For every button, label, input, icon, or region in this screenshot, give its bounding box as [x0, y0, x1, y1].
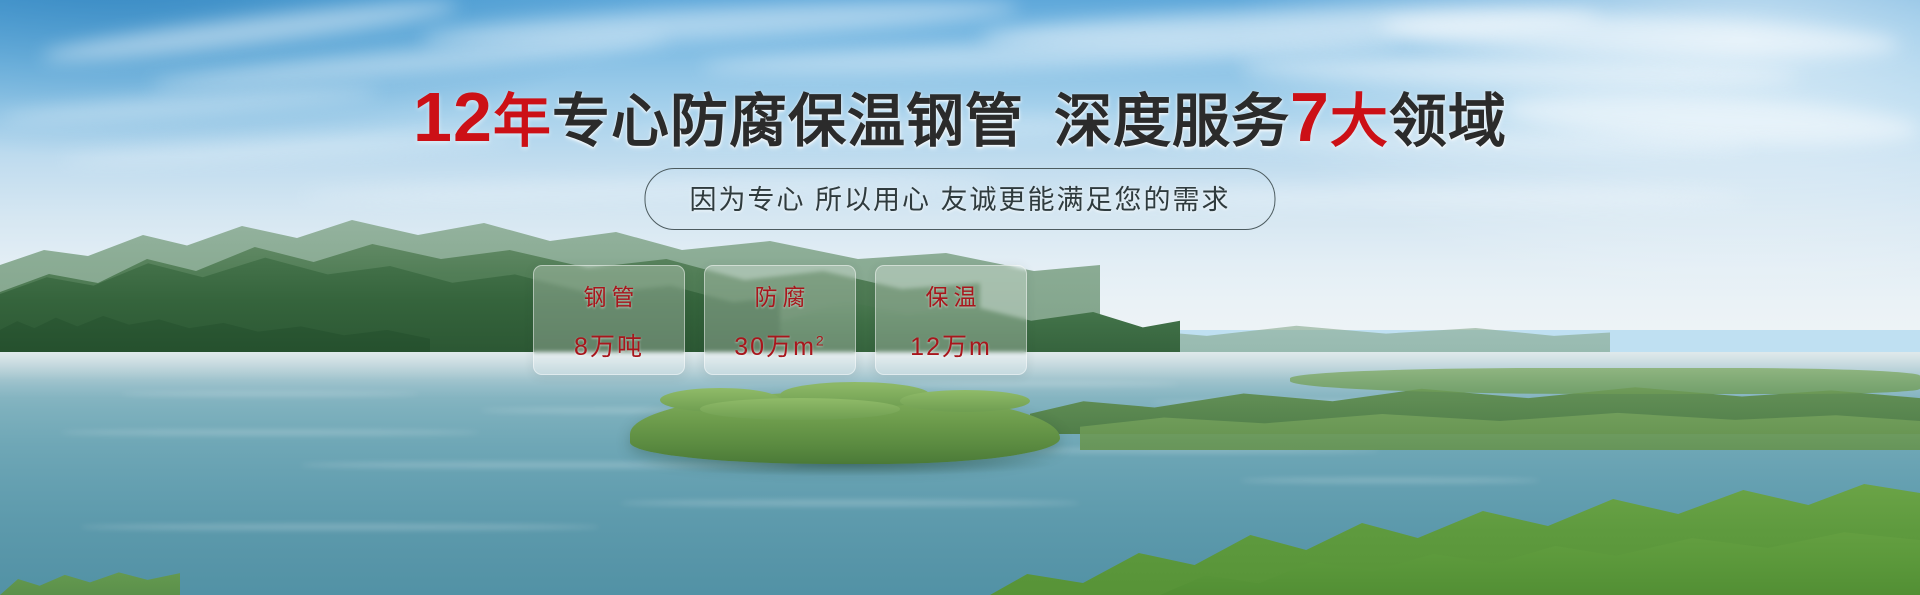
water-ripple: [620, 500, 1080, 506]
headline-areas-number: 7: [1290, 78, 1330, 156]
water-ripple: [900, 382, 1180, 386]
stat-card-insulation[interactable]: 保温 12万m: [875, 265, 1027, 375]
stat-card-anticorrosion[interactable]: 防腐 30万m2: [704, 265, 856, 375]
water-ripple: [80, 524, 600, 530]
stat-card-value-text: 12万m: [910, 333, 992, 361]
stat-card-value-text: 8万吨: [574, 333, 644, 361]
stat-card-title: 保温: [921, 278, 982, 312]
water-ripple: [1240, 478, 1540, 483]
stat-card-value: 30万m2: [734, 327, 825, 363]
headline-main-text-2: 深度服务: [1054, 89, 1290, 154]
banner-subtitle-pill: 因为专心 所以用心 友诚更能满足您的需求: [644, 168, 1275, 230]
stat-card-value-text: 30万m: [734, 333, 816, 361]
stat-cards-group: 钢管 8万吨 防腐 30万m2 保温 12万m: [533, 265, 1027, 375]
water-ripple: [60, 430, 480, 435]
stat-card-value-superscript: 2: [816, 332, 826, 348]
grass-tuft: [900, 390, 1030, 412]
stat-card-title: 防腐: [750, 278, 811, 312]
headline-main-text-3: 领域: [1389, 89, 1507, 154]
banner-headline: 12年专心防腐保温钢管深度服务7大领域: [0, 86, 1920, 153]
grass-tuft: [700, 398, 900, 420]
wetland-strip: [1290, 368, 1920, 394]
water-ripple: [120, 392, 420, 396]
banner-subtitle-text: 因为专心 所以用心 友诚更能满足您的需求: [689, 185, 1230, 215]
stat-card-steel-pipe[interactable]: 钢管 8万吨: [533, 265, 685, 375]
stat-card-value: 12万m: [910, 327, 992, 363]
headline-areas-unit: 大: [1330, 89, 1389, 154]
stat-card-title: 钢管: [579, 278, 640, 312]
headline-main-text-1: 专心防腐保温钢管: [552, 89, 1024, 154]
hero-banner: 12年专心防腐保温钢管深度服务7大领域 因为专心 所以用心 友诚更能满足您的需求…: [0, 0, 1920, 595]
headline-years-unit: 年: [493, 89, 552, 154]
stat-card-value: 8万吨: [574, 327, 644, 363]
headline-years-number: 12: [413, 78, 493, 156]
